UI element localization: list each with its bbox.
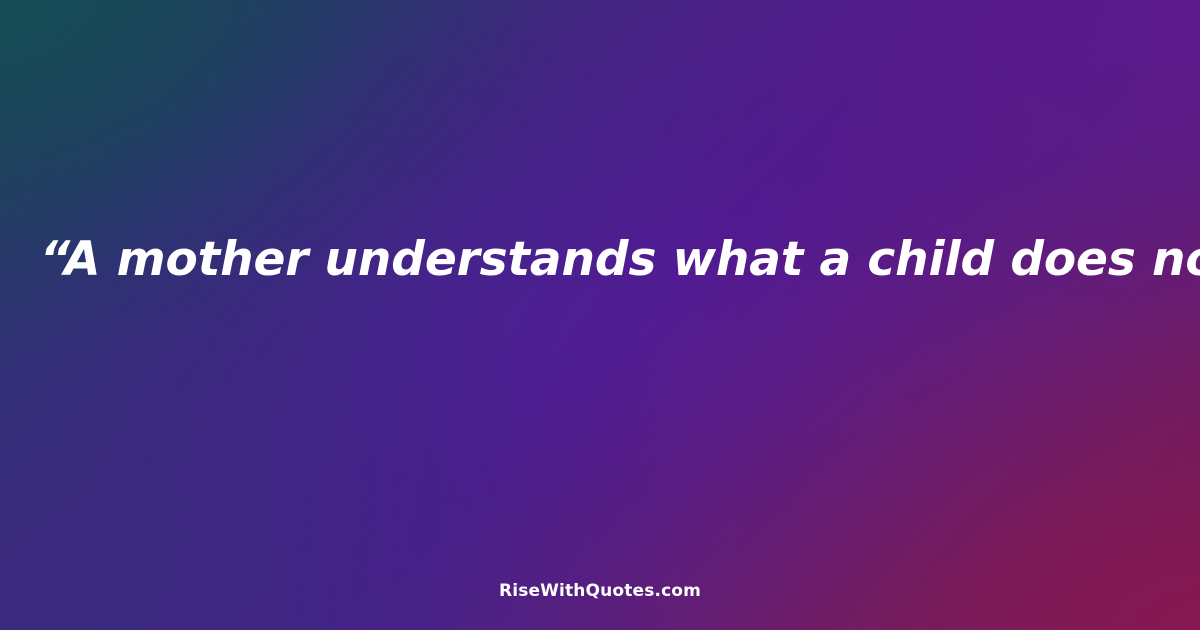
quote-text: “A mother understands what a child does … [0,232,1200,288]
footer-brand-label: RiseWithQuotes.com [0,580,1200,602]
quote-card: “A mother understands what a child does … [0,0,1200,630]
card-content: “A mother understands what a child does … [0,0,1200,630]
